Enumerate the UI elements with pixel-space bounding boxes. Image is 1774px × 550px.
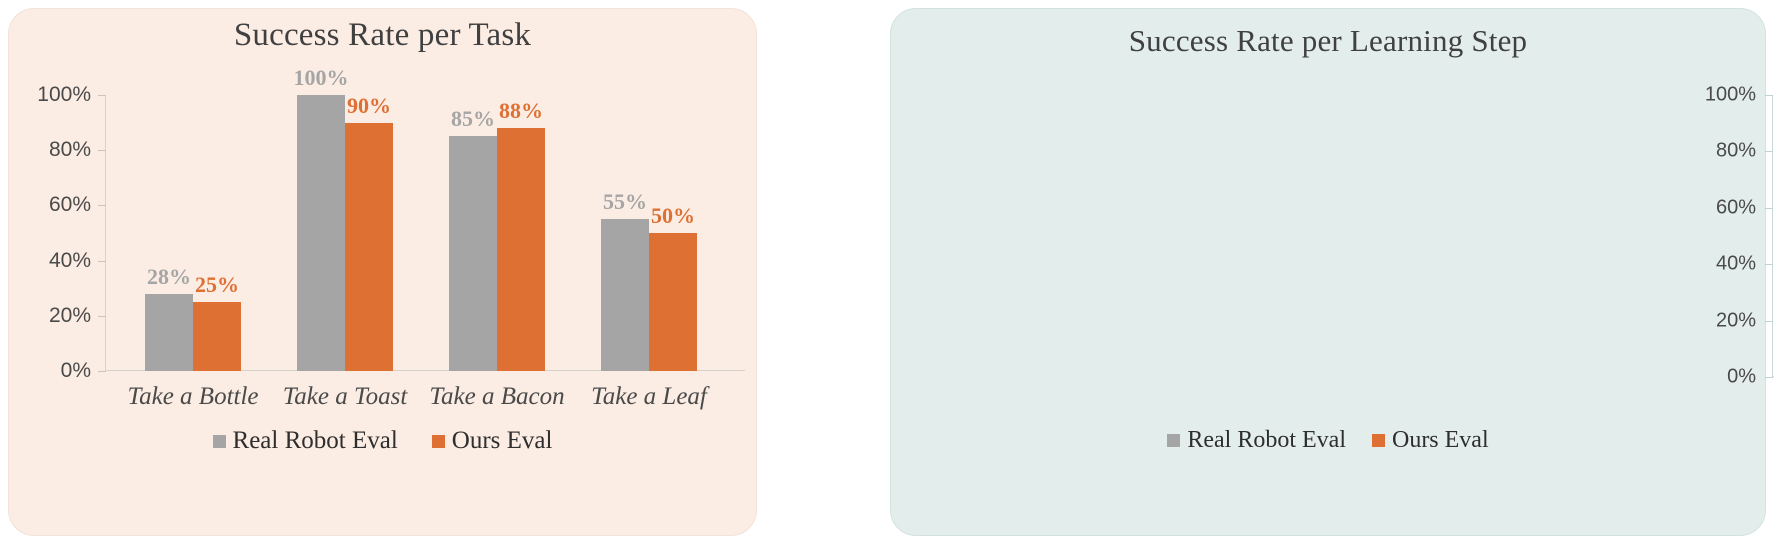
- y-axis-tick: [1765, 95, 1773, 96]
- legend-label: Ours Eval: [1392, 427, 1489, 454]
- bar-value-label: 100%: [294, 65, 349, 91]
- legend-label: Real Robot Eval: [1187, 427, 1346, 454]
- bar-ours-eval[interactable]: [649, 233, 697, 371]
- bar-value-label: 90%: [347, 93, 391, 119]
- bar-value-label: 25%: [195, 272, 239, 298]
- x-axis-category-label: Take a Bacon: [429, 383, 564, 411]
- legend-label: Real Robot Eval: [233, 427, 398, 455]
- bar-ours-eval[interactable]: [345, 123, 393, 371]
- y-axis-tick-label: 80%: [49, 138, 91, 162]
- legend-swatch-icon: [432, 435, 445, 448]
- y-axis-tick-label: 0%: [61, 359, 91, 383]
- chart-panel-success-rate-per-task: Success Rate per Task 0%20%40%60%80%100%…: [8, 8, 757, 536]
- bar-value-label: 88%: [499, 98, 543, 124]
- bar-group: 85%88%Take a Bacon: [449, 95, 545, 371]
- page-title-right: Success Rate per Learning Step: [891, 23, 1765, 59]
- x-axis-category-label: Take a Leaf: [591, 383, 707, 411]
- y-axis-tick-label: 40%: [1716, 253, 1756, 276]
- plot-area-left: 0%20%40%60%80%100%28%25%Take a Bottle100…: [105, 95, 745, 371]
- bar-group: 100%90%Take a Toast: [297, 95, 393, 371]
- bar-value-label: 50%: [651, 203, 695, 229]
- legend-item[interactable]: Real Robot Eval: [213, 427, 398, 455]
- bar-real-robot-eval[interactable]: [601, 219, 649, 371]
- legend-swatch-icon: [1167, 434, 1180, 447]
- bar-value-label: 28%: [147, 264, 191, 290]
- y-axis-tick-label: 20%: [49, 304, 91, 328]
- legend-swatch-icon: [213, 435, 226, 448]
- y-axis-line-right: [1772, 95, 1773, 377]
- legend-left: Real Robot EvalOurs Eval: [9, 427, 756, 455]
- y-axis-tick-label: 60%: [1716, 196, 1756, 219]
- y-axis-tick: [98, 371, 106, 372]
- y-axis-line-left: [105, 95, 106, 371]
- y-axis-tick-label: 0%: [1727, 366, 1756, 389]
- y-axis-tick-label: 100%: [1705, 84, 1756, 107]
- bar-real-robot-eval[interactable]: [297, 95, 345, 371]
- legend-label: Ours Eval: [452, 427, 553, 455]
- bar-ours-eval[interactable]: [497, 128, 545, 371]
- x-axis-category-label: Take a Toast: [283, 383, 408, 411]
- y-axis-tick: [1765, 208, 1773, 209]
- legend-item[interactable]: Ours Eval: [1372, 427, 1489, 454]
- y-axis-tick: [1765, 321, 1773, 322]
- legend-swatch-icon: [1372, 434, 1385, 447]
- page-title-left: Success Rate per Task: [9, 17, 756, 54]
- figure-stage: Success Rate per Task 0%20%40%60%80%100%…: [0, 0, 1774, 550]
- bar-group: 28%25%Take a Bottle: [145, 95, 241, 371]
- bar-value-label: 55%: [603, 189, 647, 215]
- y-axis-tick: [98, 95, 106, 96]
- y-axis-tick: [1765, 377, 1773, 378]
- y-axis-tick: [98, 150, 106, 151]
- bar-value-label: 85%: [451, 106, 495, 132]
- y-axis-tick-label: 60%: [49, 193, 91, 217]
- bar-real-robot-eval[interactable]: [145, 294, 193, 371]
- y-axis-tick-label: 20%: [1716, 309, 1756, 332]
- bar-real-robot-eval[interactable]: [449, 136, 497, 371]
- x-axis-category-label: Take a Bottle: [127, 383, 258, 411]
- y-axis-tick: [98, 261, 106, 262]
- y-axis-tick-label: 100%: [37, 83, 91, 107]
- y-axis-tick: [1765, 151, 1773, 152]
- legend-item[interactable]: Real Robot Eval: [1167, 427, 1346, 454]
- y-axis-tick: [98, 316, 106, 317]
- y-axis-tick-label: 80%: [1716, 140, 1756, 163]
- legend-item[interactable]: Ours Eval: [432, 427, 553, 455]
- y-axis-tick: [98, 205, 106, 206]
- bar-group: 55%50%Take a Leaf: [601, 95, 697, 371]
- chart-panel-success-rate-per-learning-step: Success Rate per Learning Step 0%20%40%6…: [890, 8, 1766, 536]
- legend-right: Real Robot EvalOurs Eval: [891, 427, 1765, 454]
- y-axis-tick-label: 40%: [49, 249, 91, 273]
- bar-ours-eval[interactable]: [193, 302, 241, 371]
- y-axis-tick: [1765, 264, 1773, 265]
